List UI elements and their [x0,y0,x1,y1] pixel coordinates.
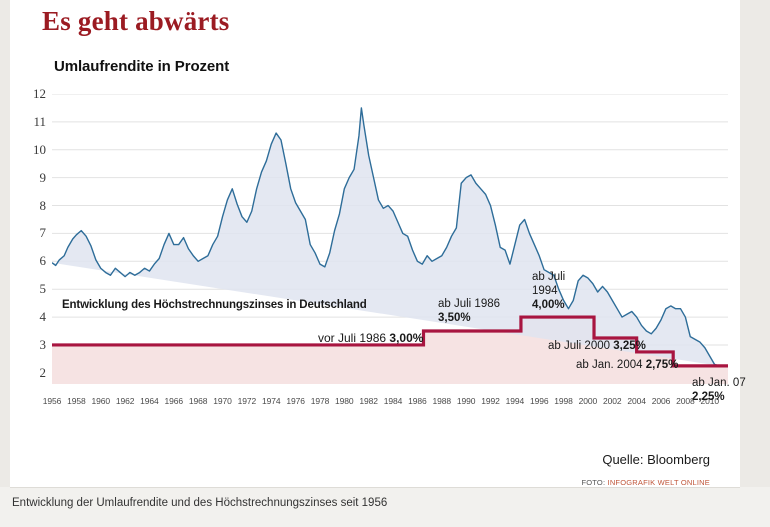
x-tick-label: 1976 [286,396,305,406]
x-tick-label: 1956 [43,396,62,406]
annotation-july-2000-label: ab Juli 2000 [548,340,610,352]
x-tick-label: 2004 [627,396,646,406]
x-tick-label: 1996 [530,396,549,406]
x-tick-label: 1992 [481,396,500,406]
photo-credit: FOTO: INFOGRAFIK WELT ONLINE [581,478,710,487]
x-axis-labels: 1956195819601962196419661968197019721974… [52,396,728,412]
annotation-jan-2007-value: 2,25% [692,391,725,403]
annotation-july-1994: ab Juli 1994 4,00% [532,270,565,312]
x-tick-label: 1982 [359,396,378,406]
photo-credit-name: INFOGRAFIK WELT ONLINE [608,478,710,487]
annotation-before-july-1986-value: 3,00% [389,331,423,345]
x-tick-label: 2002 [603,396,622,406]
annotation-july-2000-value: 3,25% [613,340,646,352]
x-tick-label: 1964 [140,396,159,406]
annotation-jan-2007-label: ab Jan. 07 [692,376,746,390]
x-tick-label: 1958 [67,396,86,406]
annotation-july-1986-label: ab Juli 1986 [438,297,500,311]
x-tick-label: 1994 [506,396,525,406]
annotation-july-1994-value: 4,00% [532,299,565,311]
annotation-july-1986: ab Juli 1986 3,50% [438,297,500,325]
y-axis-labels: 12111098765432 [10,94,46,384]
photo-credit-prefix: FOTO: [581,478,605,487]
caption-divider [10,487,740,488]
y-tick-label: 3 [40,337,47,353]
y-tick-label: 4 [40,309,47,325]
chart-subtitle: Umlaufrendite in Prozent [54,58,229,75]
y-tick-label: 9 [40,170,47,186]
x-tick-label: 1988 [433,396,452,406]
x-tick-label: 1980 [335,396,354,406]
x-tick-label: 1972 [238,396,257,406]
y-tick-label: 12 [33,86,46,102]
y-tick-label: 10 [33,142,46,158]
y-tick-label: 2 [40,365,47,381]
x-tick-label: 1990 [457,396,476,406]
x-tick-label: 1962 [116,396,135,406]
y-tick-label: 8 [40,198,47,214]
annotation-july-2000: ab Juli 2000 3,25% [548,340,646,352]
annotation-july-1986-value: 3,50% [438,312,471,324]
annotation-jan-2004-value: 2,75% [646,359,679,371]
annotation-before-july-1986: vor Juli 1986 3,00% [318,331,423,345]
source-label: Quelle: Bloomberg [602,452,710,467]
y-tick-label: 7 [40,225,47,241]
x-tick-label: 2006 [652,396,671,406]
x-tick-label: 1970 [213,396,232,406]
x-tick-label: 1966 [165,396,184,406]
annotation-jan-2004-label: ab Jan. 2004 [576,359,643,371]
x-tick-label: 1960 [91,396,110,406]
figure-caption: Entwicklung der Umlaufrendite und des Hö… [12,497,387,509]
annotation-jan-2007: ab Jan. 07 2,25% [692,376,746,404]
x-tick-label: 1998 [554,396,573,406]
y-tick-label: 11 [33,114,46,130]
right-margin [740,0,770,527]
y-tick-label: 6 [40,253,47,269]
x-tick-label: 1986 [408,396,427,406]
annotation-development: Entwicklung des Höchstrechnungszinses in… [62,299,367,311]
annotation-july-1994-label-line2: 1994 [532,284,565,298]
chart-card: Es geht abwärts Umlaufrendite in Prozent… [10,0,740,487]
x-tick-label: 1978 [311,396,330,406]
x-tick-label: 1974 [262,396,281,406]
x-tick-label: 2000 [579,396,598,406]
y-tick-label: 5 [40,281,47,297]
page-title: Es geht abwärts [42,6,230,37]
left-margin [0,0,10,527]
infographic-page: Es geht abwärts Umlaufrendite in Prozent… [0,0,770,527]
annotation-july-1994-label-line1: ab Juli [532,270,565,284]
annotation-jan-2004: ab Jan. 2004 2,75% [576,359,678,371]
x-tick-label: 1968 [189,396,208,406]
annotation-before-july-1986-label: vor Juli 1986 [318,331,386,345]
x-tick-label: 1984 [384,396,403,406]
